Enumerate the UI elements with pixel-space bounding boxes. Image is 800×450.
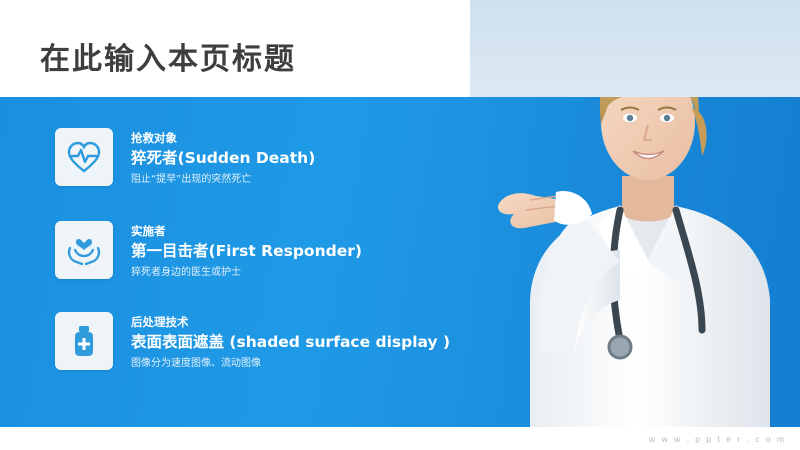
item-label: 后处理技术 <box>131 314 450 330</box>
slide-root: 在此输入本页标题 P PPT 医学PPT素材大全 最设室 <box>0 0 800 450</box>
item-description: 猝死者身边的医生或护士 <box>131 265 362 280</box>
list-item: 抢救对象 猝死者(Sudden Death) 阻止“提早”出现的突然死亡 <box>55 128 315 187</box>
list-item-texts: 后处理技术 表面表面遮盖 (shaded surface display ) 图… <box>131 312 450 371</box>
photo-top-background <box>470 0 800 97</box>
doctor-photo <box>470 0 800 427</box>
item-heading: 猝死者(Sudden Death) <box>131 147 315 170</box>
item-heading: 表面表面遮盖 (shaded surface display ) <box>131 331 450 354</box>
list-item-texts: 抢救对象 猝死者(Sudden Death) 阻止“提早”出现的突然死亡 <box>131 128 315 187</box>
item-label: 实施者 <box>131 223 362 239</box>
hands-heart-icon <box>55 221 113 279</box>
medicine-bottle-icon <box>55 312 113 370</box>
item-description: 图像分为速度图像、流动图像 <box>131 356 450 371</box>
list-item-texts: 实施者 第一目击者(First Responder) 猝死者身边的医生或护士 <box>131 221 362 280</box>
item-label: 抢救对象 <box>131 130 315 146</box>
item-description: 阻止“提早”出现的突然死亡 <box>131 172 315 187</box>
page-title: 在此输入本页标题 <box>40 34 296 78</box>
heartbeat-icon <box>55 128 113 186</box>
list-item: 后处理技术 表面表面遮盖 (shaded surface display ) 图… <box>55 312 450 371</box>
item-heading: 第一目击者(First Responder) <box>131 240 362 263</box>
list-item: 实施者 第一目击者(First Responder) 猝死者身边的医生或护士 <box>55 221 362 280</box>
footer-url: w w w . p p t e r . c o m <box>649 434 786 444</box>
